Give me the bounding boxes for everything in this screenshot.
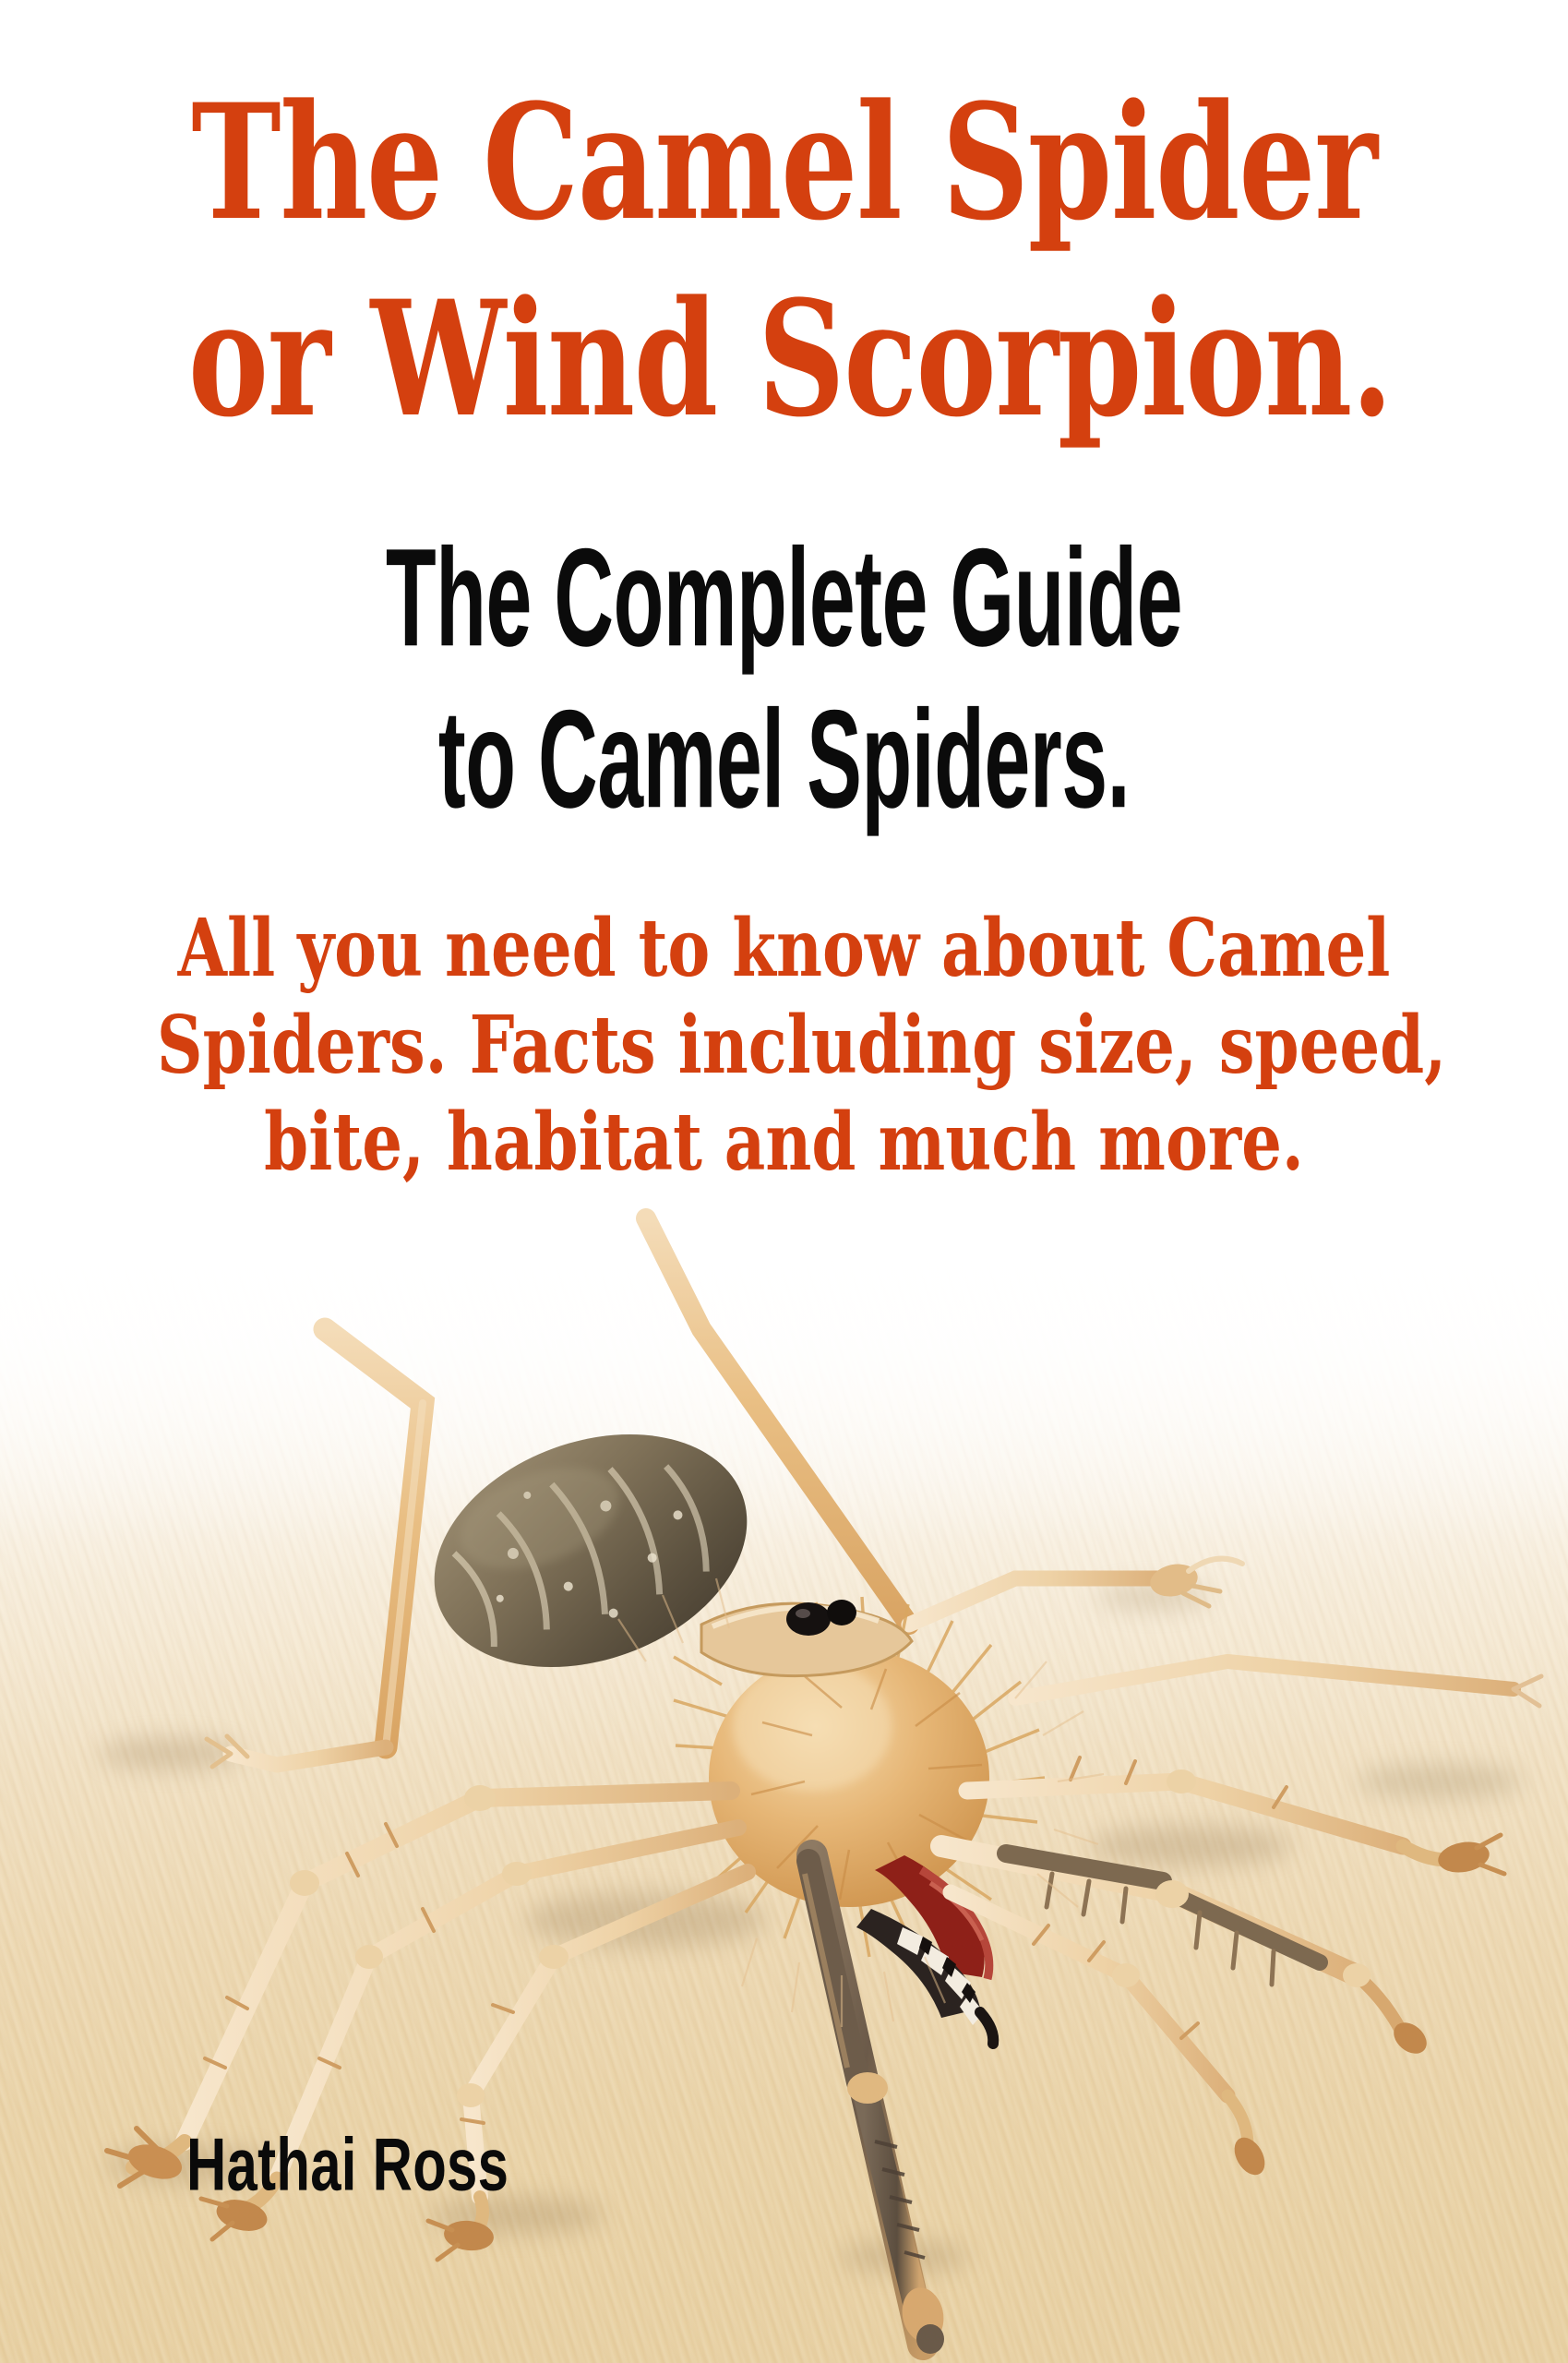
subtitle-line-2: to Camel Spiders. <box>235 690 1333 830</box>
book-cover: The Camel Spider or Wind Scorpion. The C… <box>0 0 1568 2363</box>
subtitle-line-1: The Complete Guide <box>235 529 1333 668</box>
tagline-line-2: Spiders. Facts including size, speed, <box>157 1006 1411 1086</box>
tagline-line-3: bite, habitat and much more. <box>157 1103 1411 1182</box>
spider-eye-left <box>786 1602 831 1636</box>
title-line-2: or Wind Scorpion. <box>188 282 1380 438</box>
spider-eye-right <box>827 1600 856 1625</box>
author-name: Hathai Ross <box>186 2123 509 2207</box>
title-line-1: The Camel Spider <box>188 85 1380 241</box>
tagline-line-1: All you need to know about Camel <box>157 909 1411 989</box>
